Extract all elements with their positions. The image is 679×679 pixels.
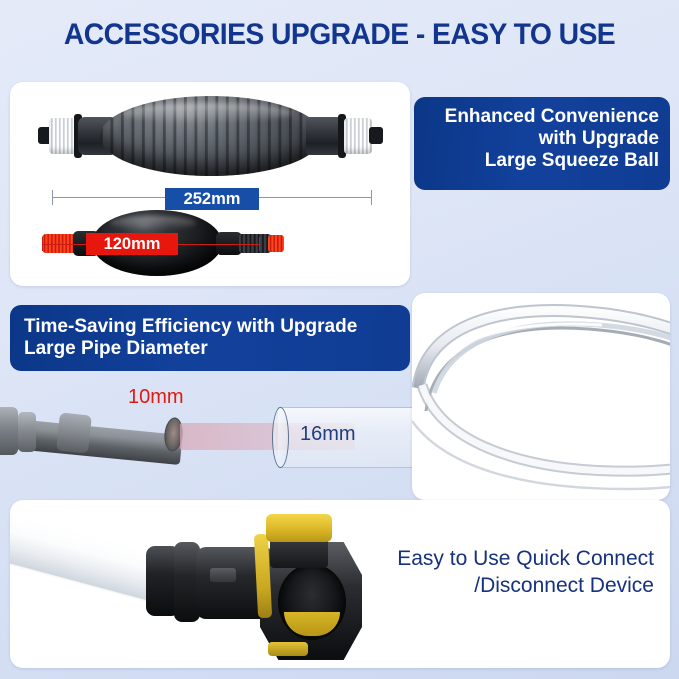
infographic-stage: ACCESSORIES UPGRADE - EASY TO USE 252mm: [0, 0, 679, 679]
dimension-line-120: 120mm: [42, 237, 260, 251]
pump-bulb-highlight: [122, 103, 292, 123]
dimension-tick-right: [259, 237, 260, 251]
dimension-badge-252: 252mm: [165, 188, 259, 210]
pump-comparison-card: 252mm 120mm: [10, 82, 410, 286]
feature-line-3: Large Squeeze Ball: [424, 150, 659, 172]
feature-panel-time-saving: Time-Saving Efficiency with Upgrade Larg…: [10, 305, 410, 371]
dimension-tick-right: [371, 190, 372, 205]
clear-tube-opening: [272, 407, 289, 468]
coiled-hose-card: [412, 293, 670, 500]
caption-line-1: Easy to Use Quick Connect: [334, 546, 654, 573]
gray-hose-fitting-3-icon: [56, 412, 92, 453]
gray-hose-fitting-2-icon: [18, 412, 36, 452]
feature-line-2: Large Pipe Diameter: [24, 338, 410, 360]
coiled-hose-icon: [412, 293, 670, 500]
feature-line-1: Time-Saving Efficiency with Upgrade: [24, 316, 410, 338]
coupler-yellow-lever: [266, 514, 332, 542]
quick-connect-caption: Easy to Use Quick Connect /Disconnect De…: [334, 546, 654, 600]
coupler-yellow-foot: [268, 642, 308, 656]
pump-tip-right-icon: [369, 127, 383, 144]
large-squeeze-ball-image: [38, 94, 383, 178]
small-pump-highlight: [110, 216, 196, 230]
feature-panel-enhanced-convenience: Enhanced Convenience with Upgrade Large …: [414, 97, 670, 190]
dimension-badge-120: 120mm: [86, 233, 178, 255]
feature-line-1: Enhanced Convenience: [424, 106, 659, 128]
gray-hose-fitting-1-icon: [0, 407, 18, 455]
caption-line-2: /Disconnect Device: [334, 573, 654, 600]
dimension-line-252: 252mm: [52, 190, 372, 206]
coupler-embossed-logo: [210, 568, 236, 582]
pipe-label-10mm: 10mm: [128, 386, 184, 409]
small-pump-red-fitting-right-icon: [268, 235, 284, 252]
pump-nut-right-icon: [344, 118, 372, 154]
pipe-label-16mm: 16mm: [300, 423, 356, 446]
feature-line-2: with Upgrade: [424, 128, 659, 150]
page-title: ACCESSORIES UPGRADE - EASY TO USE: [14, 18, 666, 52]
quick-connect-card: Easy to Use Quick Connect /Disconnect De…: [10, 500, 670, 668]
pump-nut-left-icon: [49, 118, 77, 154]
